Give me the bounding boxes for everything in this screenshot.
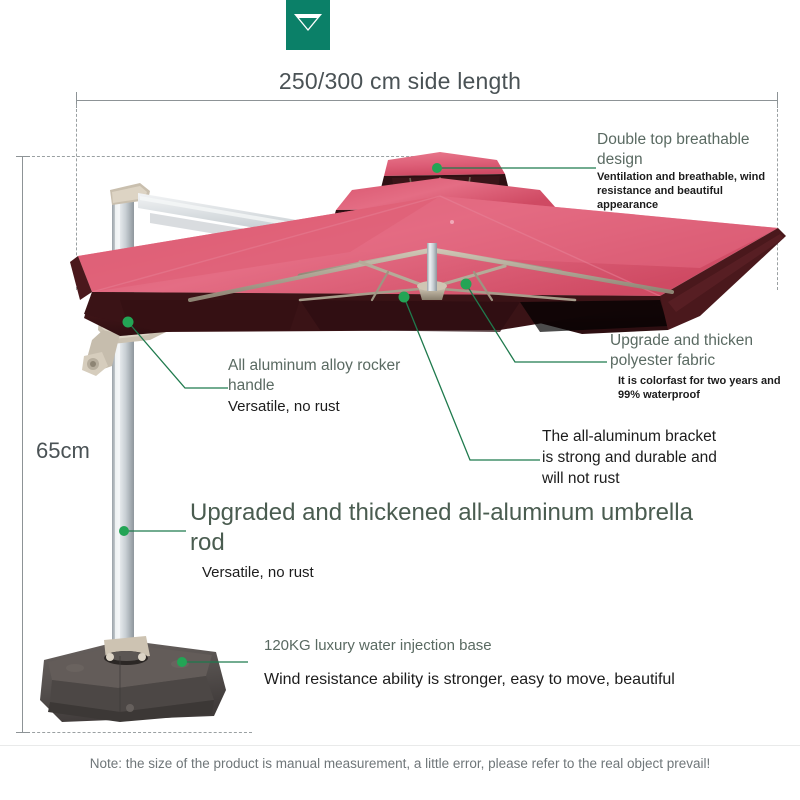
callout-rod-desc: Versatile, no rust	[190, 558, 710, 583]
callout-fabric: Upgrade and thicken polyester fabric It …	[610, 331, 795, 402]
marker-fabric	[461, 279, 472, 290]
water-injection-base	[40, 636, 226, 722]
callout-rod: Upgraded and thickened all-aluminum umbr…	[190, 498, 710, 583]
callout-base-title: 120KG luxury water injection base	[264, 636, 694, 656]
marker-double-top	[432, 163, 442, 173]
marker-base	[177, 657, 187, 667]
marker-rod	[119, 526, 129, 536]
callout-rocker: All aluminum alloy rocker handle Versati…	[228, 356, 443, 417]
footer-note: Note: the size of the product is manual …	[0, 756, 800, 771]
callout-bracket-text: The all-aluminum bracket is strong and d…	[542, 426, 722, 489]
callout-double-top-title: Double top breathable design	[597, 130, 787, 170]
callout-bracket: The all-aluminum bracket is strong and d…	[542, 426, 722, 489]
callout-base-desc: Wind resistance ability is stronger, eas…	[264, 656, 694, 690]
marker-bracket	[399, 292, 410, 303]
marker-rocker	[123, 317, 134, 328]
callout-double-top-desc: Ventilation and breathable, wind resista…	[597, 170, 787, 212]
callout-rocker-desc: Versatile, no rust	[228, 396, 443, 417]
callout-double-top: Double top breathable design Ventilation…	[597, 130, 787, 212]
callout-fabric-title: Upgrade and thicken polyester fabric	[610, 331, 795, 371]
infographic-canvas: 250/300 cm side length 65cm	[0, 0, 800, 800]
callout-fabric-desc: It is colorfast for two years and 99% wa…	[610, 371, 795, 402]
footer-divider	[0, 745, 800, 746]
callout-rod-title: Upgraded and thickened all-aluminum umbr…	[190, 498, 710, 558]
callout-base: 120KG luxury water injection base Wind r…	[264, 636, 694, 690]
callout-rocker-title: All aluminum alloy rocker handle	[228, 356, 443, 396]
